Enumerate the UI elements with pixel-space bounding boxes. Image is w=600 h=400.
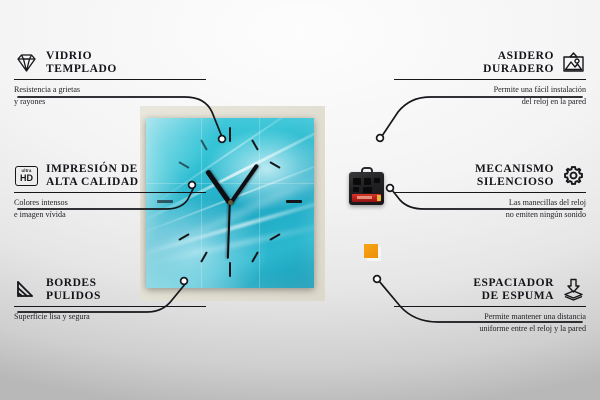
feature-rule (14, 79, 206, 81)
feature-mecanismo-silencioso: MECANISMO SILENCIOSO Las manecillas del … (394, 163, 586, 220)
feature-title-line1: VIDRIO (46, 50, 117, 63)
clock-mechanism (349, 172, 384, 205)
feature-description: Permite una fácil instalación del reloj … (394, 84, 586, 106)
feature-title-line1: MECANISMO (475, 163, 554, 176)
feature-desc-line2: y rayones (14, 96, 206, 107)
feature-description: Resistencia a grietas y rayones (14, 84, 206, 106)
mechanism-detail (363, 187, 372, 193)
feature-titles: VIDRIO TEMPLADO (46, 50, 117, 76)
feature-header: ultra HD IMPRESIÓN DE ALTA CALIDAD (14, 163, 206, 189)
feature-title-line2: PULIDOS (46, 290, 101, 303)
feature-espaciador-de-espuma: ESPACIADOR DE ESPUMA Permite mantener un… (394, 277, 586, 334)
feature-desc-line2: e imagen vívida (14, 209, 206, 220)
gear-icon (561, 163, 586, 188)
infographic-stage: VIDRIO TEMPLADO Resistencia a grietas y … (0, 0, 600, 400)
feature-titles: IMPRESIÓN DE ALTA CALIDAD (46, 163, 139, 189)
connector-endpoint-5 (387, 185, 394, 192)
feature-desc-line2: del reloj en la pared (394, 96, 586, 107)
feature-title-line2: DURADERO (483, 63, 554, 76)
pane-line (259, 118, 260, 288)
feature-rule (14, 306, 206, 308)
mechanism-hook (361, 167, 373, 174)
feature-rule (394, 192, 586, 194)
feature-title-line1: ESPACIADOR (473, 277, 554, 290)
feature-rule (394, 79, 586, 81)
mechanism-detail (364, 178, 371, 185)
battery-label (357, 196, 372, 199)
feature-header: ESPACIADOR DE ESPUMA (394, 277, 586, 303)
feature-impresion-alta-calidad: ultra HD IMPRESIÓN DE ALTA CALIDAD Color… (14, 163, 206, 220)
feature-title-line1: BORDES (46, 277, 101, 290)
clock-hub (228, 200, 233, 205)
feature-desc-line1: Las manecillas del reloj (394, 197, 586, 208)
feature-desc-line2: no emiten ningún sonido (394, 209, 586, 220)
feature-description: Colores intensos e imagen vívida (14, 197, 206, 219)
ultra-hd-icon: ultra HD (14, 163, 39, 188)
feature-title-line2: ALTA CALIDAD (46, 176, 139, 189)
feature-title-line2: SILENCIOSO (475, 176, 554, 189)
feature-desc-line1: Permite mantener una distancia (394, 311, 586, 322)
diamond-icon (14, 50, 39, 75)
feature-title-line1: IMPRESIÓN DE (46, 163, 139, 176)
clock-tick-12 (229, 127, 231, 142)
feature-desc-line2: uniforme entre el reloj y la pared (394, 323, 586, 334)
feature-titles: ESPACIADOR DE ESPUMA (473, 277, 554, 303)
feature-asidero-duradero: ASIDERO DURADERO Permite una fácil insta… (394, 50, 586, 107)
mechanism-detail (374, 178, 380, 183)
feature-desc-line1: Superficie lisa y segura (14, 311, 206, 322)
feature-header: MECANISMO SILENCIOSO (394, 163, 586, 189)
picture-hanger-icon (561, 50, 586, 75)
feature-bordes-pulidos: BORDES PULIDOS Superficie lisa y segura (14, 277, 206, 323)
feature-titles: ASIDERO DURADERO (483, 50, 554, 76)
foam-spacer-icon (561, 277, 586, 302)
clock-tick-3 (286, 200, 302, 203)
feature-title-line1: ASIDERO (483, 50, 554, 63)
mechanism-detail (353, 187, 359, 192)
hd-badge: ultra HD (15, 166, 38, 186)
feature-desc-line1: Colores intensos (14, 197, 206, 208)
feature-header: VIDRIO TEMPLADO (14, 50, 206, 76)
battery-terminal (377, 195, 381, 201)
mechanism-detail (353, 178, 361, 185)
polished-edges-icon (14, 277, 39, 302)
clock-second-hand (227, 203, 231, 259)
hd-badge-main: HD (20, 174, 33, 183)
feature-description: Superficie lisa y segura (14, 311, 206, 322)
aa-battery (352, 194, 381, 202)
feature-desc-line1: Permite una fácil instalación (394, 84, 586, 95)
foam-spacer (364, 244, 378, 258)
feature-desc-line1: Resistencia a grietas (14, 84, 206, 95)
feature-header: ASIDERO DURADERO (394, 50, 586, 76)
feature-titles: MECANISMO SILENCIOSO (475, 163, 554, 189)
connector-endpoint-4 (377, 135, 384, 142)
clock-tick-6 (229, 262, 231, 277)
feature-header: BORDES PULIDOS (14, 277, 206, 303)
feature-description: Las manecillas del reloj no emiten ningú… (394, 197, 586, 219)
feature-description: Permite mantener una distancia uniforme … (394, 311, 586, 333)
feature-title-line2: DE ESPUMA (473, 290, 554, 303)
connector-endpoint-6 (374, 276, 381, 283)
feature-rule (14, 192, 206, 194)
feature-titles: BORDES PULIDOS (46, 277, 101, 303)
feature-vidrio-templado: VIDRIO TEMPLADO Resistencia a grietas y … (14, 50, 206, 107)
feature-title-line2: TEMPLADO (46, 63, 117, 76)
feature-rule (394, 306, 586, 308)
clock-tick-2 (269, 161, 280, 169)
